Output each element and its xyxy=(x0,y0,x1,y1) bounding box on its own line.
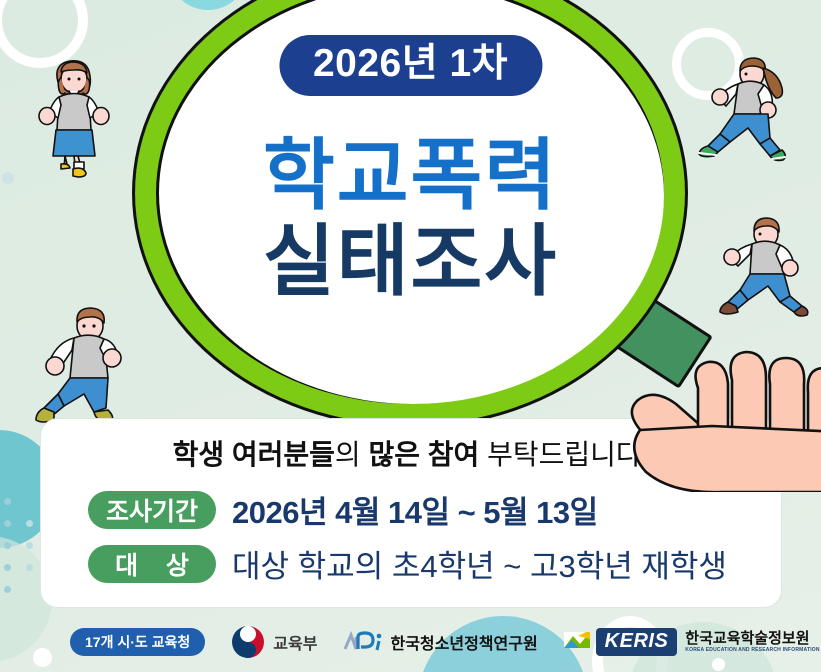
info-row-period: 조사기간 2026년 4월 14일 ~ 5월 13일 xyxy=(41,487,781,532)
logo-label-nypi: 한국청소년정책연구원 xyxy=(390,630,537,654)
footer-logo-bar: 17개 시·도 교육청 교육부 한국청소년정책연구원 xyxy=(0,612,821,672)
info-headline-bold-1: 학생 여러분들 xyxy=(173,439,335,470)
student-girl-running xyxy=(690,52,794,162)
logo-group-keris: KERIS 한국교육학술정보원 KOREA EDUCATION AND RESE… xyxy=(562,628,821,656)
logo-group-nypi: 한국청소년정책연구원 xyxy=(343,629,537,655)
value-survey-period: 2026년 4월 14일 ~ 5월 13일 xyxy=(232,487,598,532)
hand-holding-magnifier xyxy=(612,292,821,492)
decor-dot-mid-left xyxy=(2,172,14,184)
keris-wordmark: KERIS xyxy=(596,628,678,656)
label-survey-target: 대 상 xyxy=(88,545,216,583)
label-survey-period: 조사기간 xyxy=(88,491,216,529)
student-boy-running xyxy=(712,212,816,322)
student-boy-walking xyxy=(30,302,134,428)
magnifier-lens-ring xyxy=(132,0,688,428)
keris-mark-icon xyxy=(562,628,592,656)
nypi-icon xyxy=(343,629,385,655)
footer-badge-education-offices: 17개 시·도 교육청 xyxy=(70,628,205,656)
logo-label-moe: 교육부 xyxy=(273,630,317,654)
keris-name-english: KOREA EDUCATION AND RESEARCH INFORMATION… xyxy=(685,647,821,653)
keris-name-korean: 한국교육학술정보원 xyxy=(685,631,821,648)
logo-group-moe: 교육부 xyxy=(231,625,317,659)
value-survey-target: 대상 학교의 초4학년 ~ 고3학년 재학생 xyxy=(232,541,727,586)
magnifying-glass xyxy=(132,0,688,428)
student-girl-cheering xyxy=(28,52,120,178)
info-headline-normal-1: 의 xyxy=(335,439,369,470)
info-headline-bold-2: 많은 참여 xyxy=(368,439,479,470)
magnifier-lens-interior xyxy=(162,0,664,404)
poster-canvas: 2026년 1차 학교폭력 실태조사 xyxy=(0,0,821,672)
keris-name-block: 한국교육학술정보원 KOREA EDUCATION AND RESEARCH I… xyxy=(685,631,821,654)
info-row-target: 대 상 대상 학교의 초4학년 ~ 고3학년 재학생 xyxy=(41,541,781,586)
taegeuk-icon xyxy=(231,625,265,659)
